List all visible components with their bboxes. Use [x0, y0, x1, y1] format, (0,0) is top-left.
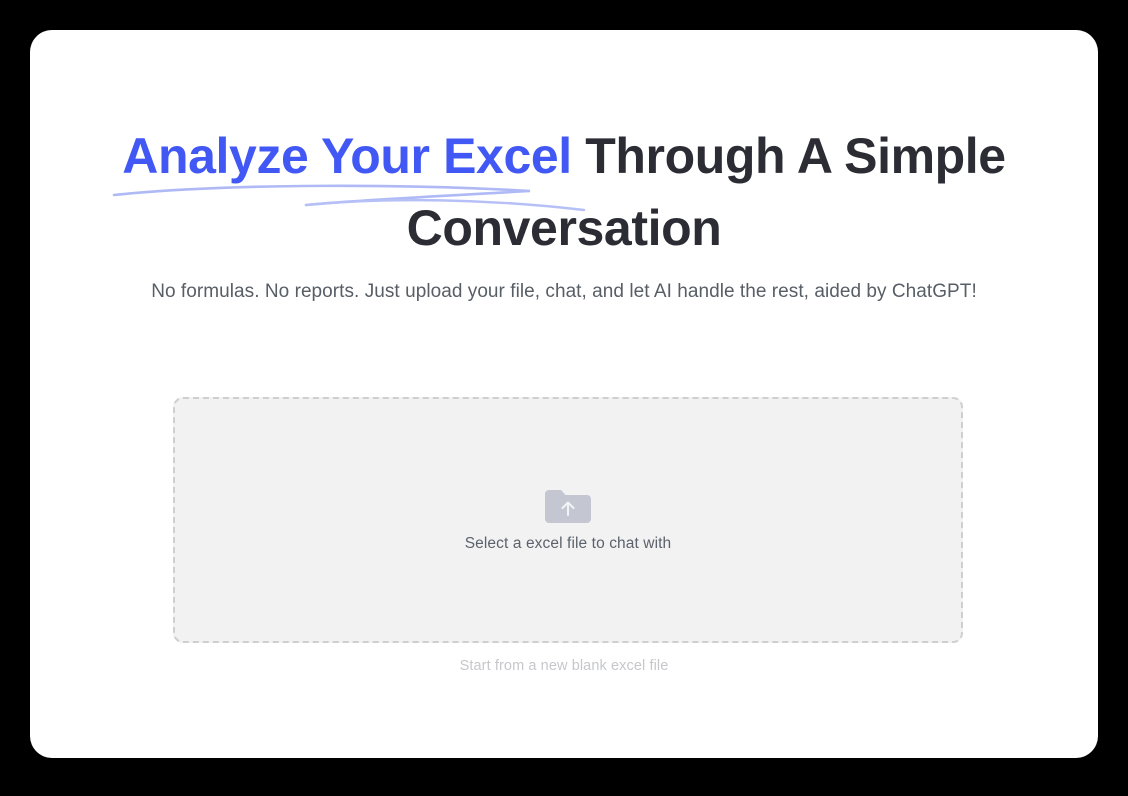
headline-accent-wrap: Analyze Your Excel [122, 120, 572, 192]
headline-accent-text: Analyze Your Excel [122, 128, 572, 184]
folder-upload-icon [545, 486, 591, 524]
dropzone-label: Select a excel file to chat with [465, 534, 672, 554]
file-dropzone[interactable]: Select a excel file to chat with [173, 397, 963, 643]
app-window: Analyze Your Excel Through A Simple Conv… [30, 30, 1098, 758]
page-content: Analyze Your Excel Through A Simple Conv… [30, 30, 1098, 758]
page-subtitle: No formulas. No reports. Just upload you… [30, 279, 1098, 306]
hero-section: Analyze Your Excel Through A Simple Conv… [30, 120, 1098, 264]
start-blank-file-link[interactable]: Start from a new blank excel file [30, 658, 1098, 674]
page-title: Analyze Your Excel Through A Simple Conv… [30, 120, 1098, 264]
